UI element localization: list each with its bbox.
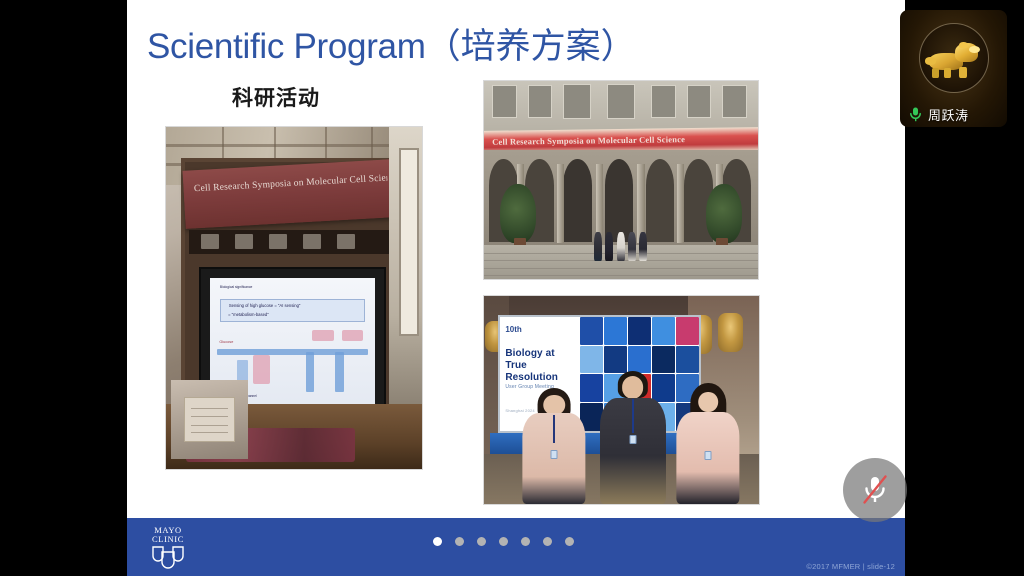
projected-line-2: = "metabolism-based" xyxy=(228,313,269,318)
participant-video-tile[interactable]: 周跃涛 xyxy=(900,10,1007,127)
person-right xyxy=(677,383,740,504)
mayo-shields-icon xyxy=(139,545,197,574)
lecture-hall-door xyxy=(399,148,419,336)
program-booklet xyxy=(184,397,235,441)
progress-dot-5[interactable] xyxy=(521,537,530,546)
slide-title-chinese: （培养方案） xyxy=(426,27,636,66)
mayo-clinic-logo: MAYO CLINIC xyxy=(139,526,197,570)
projected-line-0: Biological significance xyxy=(219,285,252,289)
slide-title: Scientific Program（培养方案） xyxy=(147,18,636,69)
person-1 xyxy=(594,232,602,262)
meeting-screen-share-view: Scientific Program（培养方案） 科研活动 Cell Resea… xyxy=(0,0,1024,576)
slide-subtitle: 科研活动 xyxy=(232,82,320,112)
facade-shrub-left xyxy=(500,184,536,243)
stage-light-rail xyxy=(189,230,389,254)
progress-dot-3[interactable] xyxy=(477,537,486,546)
led-headline-line1: Biology at xyxy=(505,348,554,359)
progress-dot-2[interactable] xyxy=(455,537,464,546)
slide-progress-dots[interactable] xyxy=(433,537,574,546)
person-2 xyxy=(605,232,613,262)
person-center xyxy=(600,371,666,504)
participant-name: 周跃涛 xyxy=(928,105,969,124)
shared-slide: Scientific Program（培养方案） 科研活动 Cell Resea… xyxy=(127,0,905,576)
person-left xyxy=(523,388,586,504)
wall-sconce-right xyxy=(718,313,743,353)
progress-dot-4[interactable] xyxy=(499,537,508,546)
anniversary-badge: 10th xyxy=(505,325,521,334)
lecture-hall-photo: Cell Research Symposia on Molecular Cell… xyxy=(165,126,423,470)
slide-footer: MAYO CLINIC xyxy=(127,518,905,576)
progress-dot-7[interactable] xyxy=(565,537,574,546)
person-4 xyxy=(628,232,636,262)
microphone-on-icon xyxy=(909,107,922,122)
mayo-wordmark: MAYO CLINIC xyxy=(139,526,197,544)
slide-copyright: ©2017 MFMER | slide-12 xyxy=(806,562,895,571)
person-3 xyxy=(617,232,625,262)
facade-banner-text: Cell Research Symposia on Molecular Cell… xyxy=(492,133,752,147)
microphone-muted-icon xyxy=(861,474,889,506)
person-5 xyxy=(639,232,647,262)
symposium-banner: Cell Research Symposia on Molecular Cell… xyxy=(182,159,395,229)
mute-microphone-button[interactable] xyxy=(843,458,907,522)
led-headline: Biology atTrue Resolution xyxy=(505,348,579,385)
facade-shrub-right xyxy=(706,184,742,243)
led-screen-group-photo: 10th Biology atTrue Resolution User Grou… xyxy=(483,295,760,505)
facade-upper-wall xyxy=(484,81,758,132)
led-headline-line2: True Resolution xyxy=(505,360,558,383)
mayo-logo-line2: CLINIC xyxy=(139,535,197,544)
projected-line-1: Sensing of high glucose = "AI sensing" xyxy=(229,303,300,308)
participant-tile-footer: 周跃涛 xyxy=(900,101,1007,127)
symposium-banner-text: Cell Research Symposia on Molecular Cell… xyxy=(194,173,387,194)
building-facade-photo: Cell Research Symposia on Molecular Cell… xyxy=(483,80,759,280)
golden-lion-figurine xyxy=(924,40,982,78)
projected-line-3: Glucose xyxy=(219,339,233,344)
avatar xyxy=(919,23,989,93)
slide-title-english: Scientific Program xyxy=(147,27,426,66)
progress-dot-6[interactable] xyxy=(543,537,552,546)
progress-dot-1[interactable] xyxy=(433,537,442,546)
